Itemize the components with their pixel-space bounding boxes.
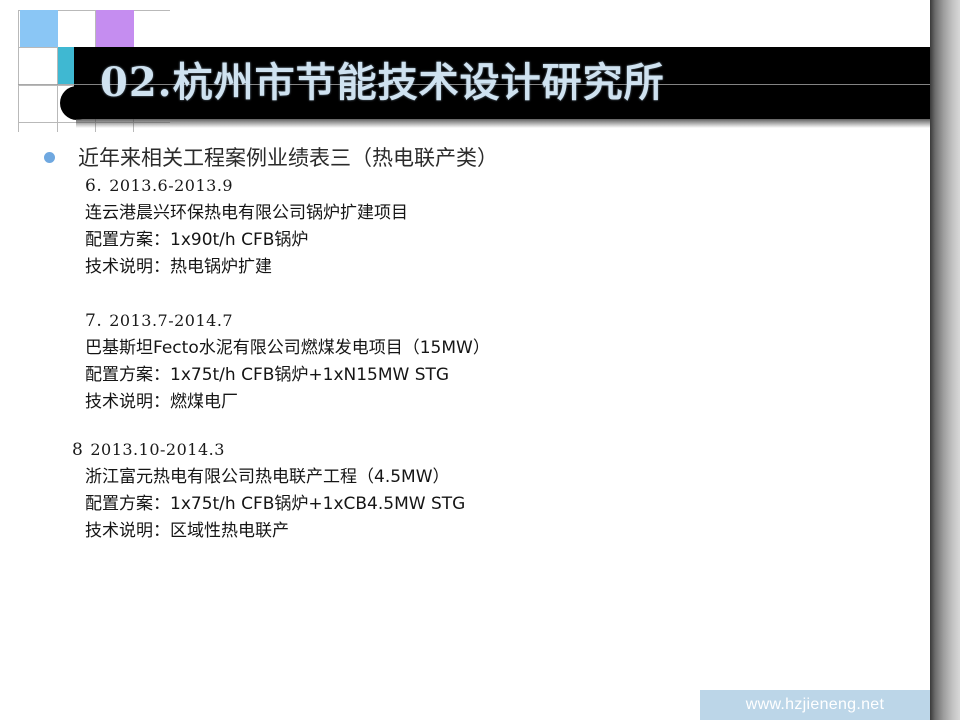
entry-technical-note: 技术说明：区域性热电联产	[85, 518, 465, 545]
entry-technical-note: 技术说明：燃煤电厂	[85, 389, 490, 416]
entry-heading: 6.2013.6-2013.9	[85, 176, 408, 196]
entry-configuration: 配置方案：1x75t/h CFB锅炉+1xCB4.5MW STG	[85, 491, 465, 518]
project-entry: 7.2013.7-2014.7 巴基斯坦Fecto水泥有限公司燃煤发电项目（15…	[85, 311, 490, 416]
decorative-square-purple	[96, 10, 134, 47]
entry-date-range: 2013.10-2014.3	[90, 440, 225, 459]
entry-configuration: 配置方案：1x90t/h CFB锅炉	[85, 227, 408, 254]
entry-configuration: 配置方案：1x75t/h CFB锅炉+1xN15MW STG	[85, 362, 490, 389]
slide-canvas: 02.杭州市节能技术设计研究所 近年来相关工程案例业绩表三（热电联产类） 6.2…	[0, 0, 960, 720]
entry-project-name: 巴基斯坦Fecto水泥有限公司燃煤发电项目（15MW）	[85, 335, 490, 362]
entry-heading: 7.2013.7-2014.7	[85, 311, 490, 331]
grid-line-vertical	[18, 10, 19, 132]
project-entry: 82013.10-2014.3 浙江富元热电有限公司热电联产工程（4.5MW） …	[72, 440, 465, 545]
section-bullet-row: 近年来相关工程案例业绩表三（热电联产类）	[44, 142, 498, 172]
footer-watermark: www.hzjieneng.net	[700, 690, 930, 720]
entry-body: 浙江富元热电有限公司热电联产工程（4.5MW） 配置方案：1x75t/h CFB…	[72, 464, 465, 545]
entry-body: 连云港晨兴环保热电有限公司锅炉扩建项目 配置方案：1x90t/h CFB锅炉 技…	[85, 200, 408, 281]
entry-project-name: 连云港晨兴环保热电有限公司锅炉扩建项目	[85, 200, 408, 227]
entry-date-range: 2013.7-2014.7	[109, 311, 233, 330]
entry-body: 巴基斯坦Fecto水泥有限公司燃煤发电项目（15MW） 配置方案：1x75t/h…	[85, 335, 490, 416]
right-edge-shading	[930, 0, 960, 720]
entry-number: 6.	[85, 176, 102, 196]
title-bar-shadow	[76, 119, 932, 128]
entry-date-range: 2013.6-2013.9	[109, 176, 233, 195]
page-title: 02.杭州市节能技术设计研究所	[100, 48, 665, 118]
entry-heading: 82013.10-2014.3	[72, 440, 465, 460]
entry-technical-note: 技术说明：热电锅炉扩建	[85, 254, 408, 281]
project-entry: 6.2013.6-2013.9 连云港晨兴环保热电有限公司锅炉扩建项目 配置方案…	[85, 176, 408, 281]
entry-number: 8	[72, 440, 83, 460]
entry-number: 7.	[85, 311, 102, 331]
section-bullet-label: 近年来相关工程案例业绩表三（热电联产类）	[78, 142, 498, 172]
bullet-dot-icon	[44, 152, 55, 163]
entry-project-name: 浙江富元热电有限公司热电联产工程（4.5MW）	[85, 464, 465, 491]
decorative-square-blue	[20, 10, 58, 47]
